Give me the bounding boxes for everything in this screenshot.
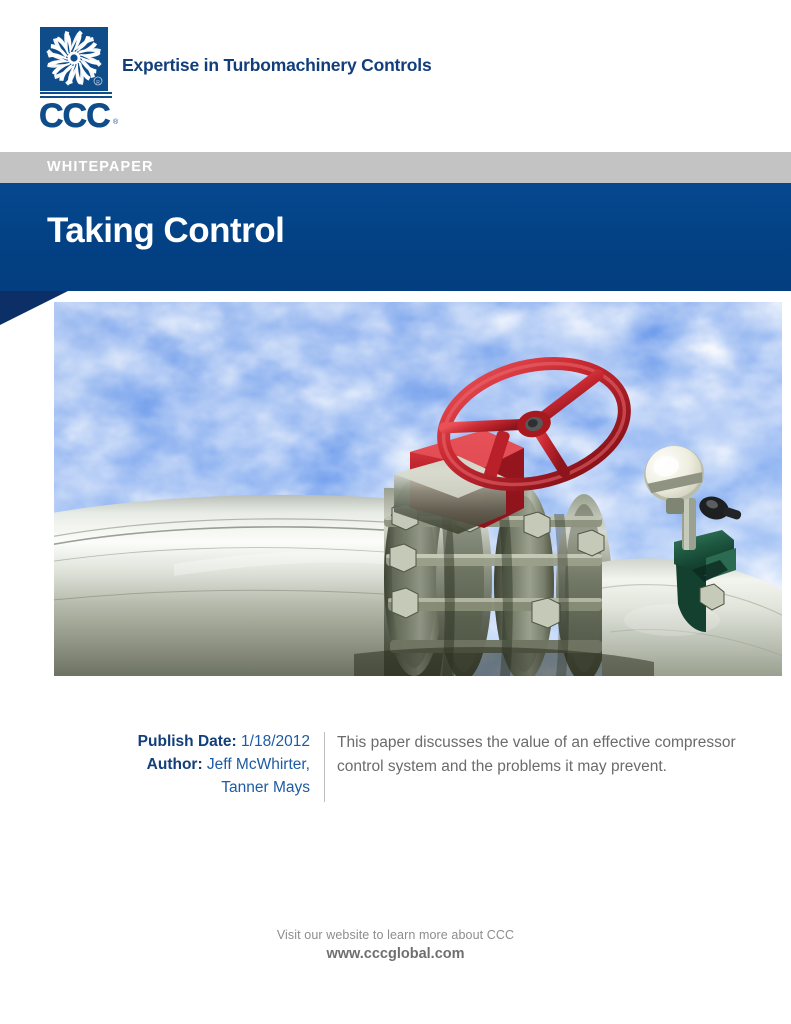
whitepaper-cover-page: R CCC ® Expertise in Turbomachinery Cont… [0, 0, 791, 1024]
document-type-band: WHITEPAPER [0, 152, 791, 183]
author-value-line-1: Jeff McWhirter, [207, 756, 310, 773]
title-banner: Taking Control [0, 183, 791, 291]
footer-website-link[interactable]: www.cccglobal.com [0, 946, 791, 962]
publish-date-label: Publish Date: [138, 733, 237, 750]
document-meta: Publish Date: 1/18/2012 Author: Jeff McW… [0, 730, 791, 810]
publish-date-row: Publish Date: 1/18/2012 [60, 730, 310, 753]
document-type-label: WHITEPAPER [47, 159, 154, 175]
turbine-impeller-icon: R [40, 27, 108, 91]
logo-wordmark: CCC [39, 99, 110, 133]
author-row: Author: Jeff McWhirter, [60, 753, 310, 776]
registered-trademark-icon: ® [113, 119, 118, 126]
page-footer: Visit our website to learn more about CC… [0, 928, 791, 962]
page-header: R CCC ® Expertise in Turbomachinery Cont… [0, 0, 791, 153]
author-label: Author: [147, 756, 203, 773]
header-tagline: Expertise in Turbomachinery Controls [122, 55, 431, 76]
publish-date-value: 1/18/2012 [241, 733, 310, 750]
page-title: Taking Control [47, 211, 284, 251]
svg-text:R: R [96, 80, 100, 86]
footer-visit-text: Visit our website to learn more about CC… [0, 928, 791, 942]
document-summary: This paper discusses the value of an eff… [337, 731, 737, 778]
meta-left-column: Publish Date: 1/18/2012 Author: Jeff McW… [60, 730, 310, 799]
cover-photo [54, 302, 782, 676]
meta-vertical-divider [324, 732, 325, 802]
ccc-logo[interactable]: R CCC ® [40, 27, 112, 127]
author-row-continued: Tanner Mays [60, 776, 310, 799]
author-value-line-2: Tanner Mays [221, 779, 310, 796]
